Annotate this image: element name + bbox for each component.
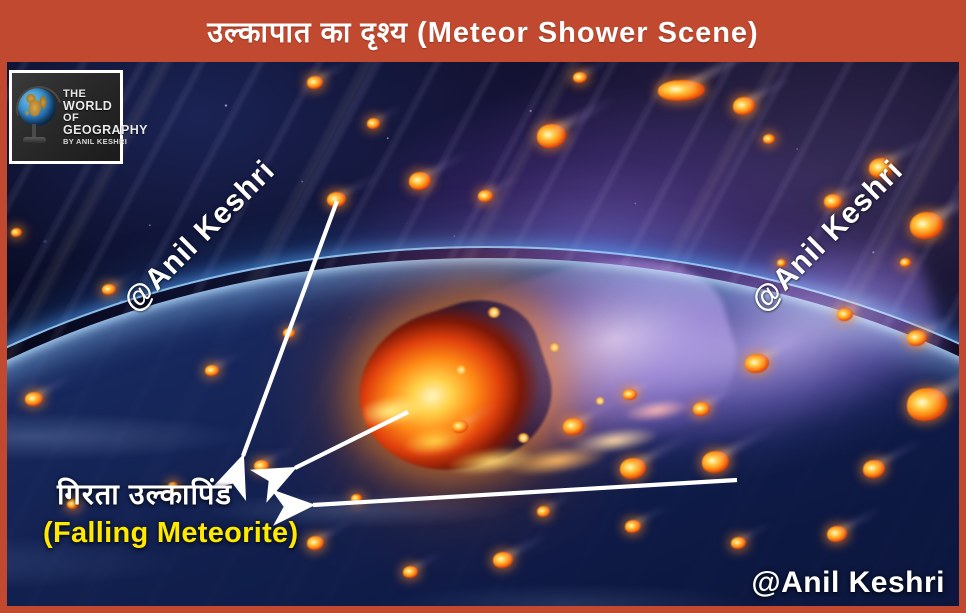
globe-stand (32, 124, 36, 138)
annotation-label-english: (Falling Meteorite) (43, 517, 298, 550)
page-title: उल्कापात का दृश्य (Meteor Shower Scene) (207, 12, 758, 51)
annotation-label-hindi: गिरता उल्कापिंड (57, 474, 298, 513)
watermark-bottom: @Anil Keshri (751, 566, 945, 600)
logo-byline: BY ANIL KESHRI (63, 138, 148, 146)
title-banner: उल्कापात का दृश्य (Meteor Shower Scene) (0, 0, 966, 62)
channel-logo[interactable]: THE WORLD OF GEOGRAPHY BY ANIL KESHRI (9, 70, 123, 164)
globe-base (23, 137, 46, 143)
arrow-to-meteorite-1 (243, 201, 337, 456)
arrow-to-meteorite-2 (295, 412, 408, 468)
logo-text-block: THE WORLD OF GEOGRAPHY BY ANIL KESHRI (63, 89, 148, 146)
scene-image: गिरता उल्कापिंड (Falling Meteorite) @Ani… (7, 62, 959, 606)
annotation-label: गिरता उल्कापिंड (Falling Meteorite) (57, 474, 298, 550)
logo-line-geography: GEOGRAPHY (63, 124, 148, 137)
globe-icon (15, 86, 59, 148)
arrow-to-meteorite-3 (313, 480, 737, 505)
meteor-shower-infographic: उल्कापात का दृश्य (Meteor Shower Scene) (0, 0, 966, 613)
logo-line-world: WORLD (63, 100, 148, 113)
